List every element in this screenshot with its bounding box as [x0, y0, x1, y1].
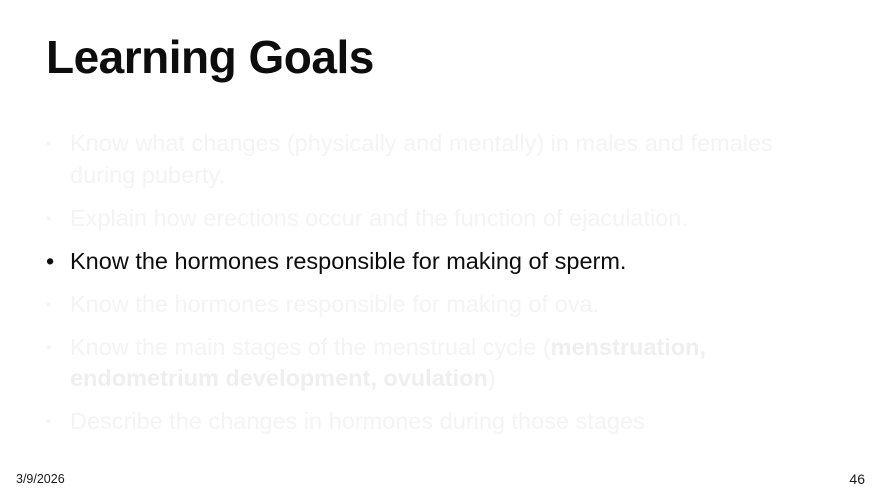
bullet-marker-icon: ▪ — [46, 332, 51, 364]
list-item-label: Know what changes (physically and mental… — [70, 128, 834, 191]
footer-page-number: 46 — [849, 471, 865, 487]
bullet-marker-icon: ▪ — [46, 203, 51, 235]
learning-goals-list: ▪ Know what changes (physically and ment… — [44, 128, 834, 449]
list-item-label: Know the hormones responsible for making… — [70, 289, 834, 321]
list-item[interactable]: ▪ Describe the changes in hormones durin… — [44, 406, 834, 438]
list-item-label: Explain how erections occur and the func… — [70, 203, 834, 235]
list-item[interactable]: ▪ Know the hormones responsible for maki… — [44, 289, 834, 321]
bullet-marker-icon: ▪ — [46, 289, 51, 321]
footer-date: 3/9/2026 — [16, 471, 65, 487]
bullet-marker-icon: ▪ — [46, 406, 51, 438]
list-item[interactable]: ▪ Know the main stages of the menstrual … — [44, 332, 834, 395]
list-item-label: Know the main stages of the menstrual cy… — [70, 332, 834, 395]
page-title: Learning Goals — [46, 32, 374, 83]
bullet-marker-icon: • — [46, 246, 54, 278]
slide: Learning Goals ▪ Know what changes (phys… — [0, 0, 879, 495]
list-item-label: Describe the changes in hormones during … — [70, 406, 834, 438]
list-item[interactable]: ▪ Know what changes (physically and ment… — [44, 128, 834, 191]
list-item-label: Know the hormones responsible for making… — [70, 246, 834, 278]
list-item-label-suffix: ) — [488, 365, 496, 391]
list-item-active[interactable]: • Know the hormones responsible for maki… — [44, 246, 834, 278]
list-item-label-prefix: Know the main stages of the menstrual cy… — [70, 334, 551, 360]
list-item[interactable]: ▪ Explain how erections occur and the fu… — [44, 203, 834, 235]
bullet-marker-icon: ▪ — [46, 128, 51, 160]
